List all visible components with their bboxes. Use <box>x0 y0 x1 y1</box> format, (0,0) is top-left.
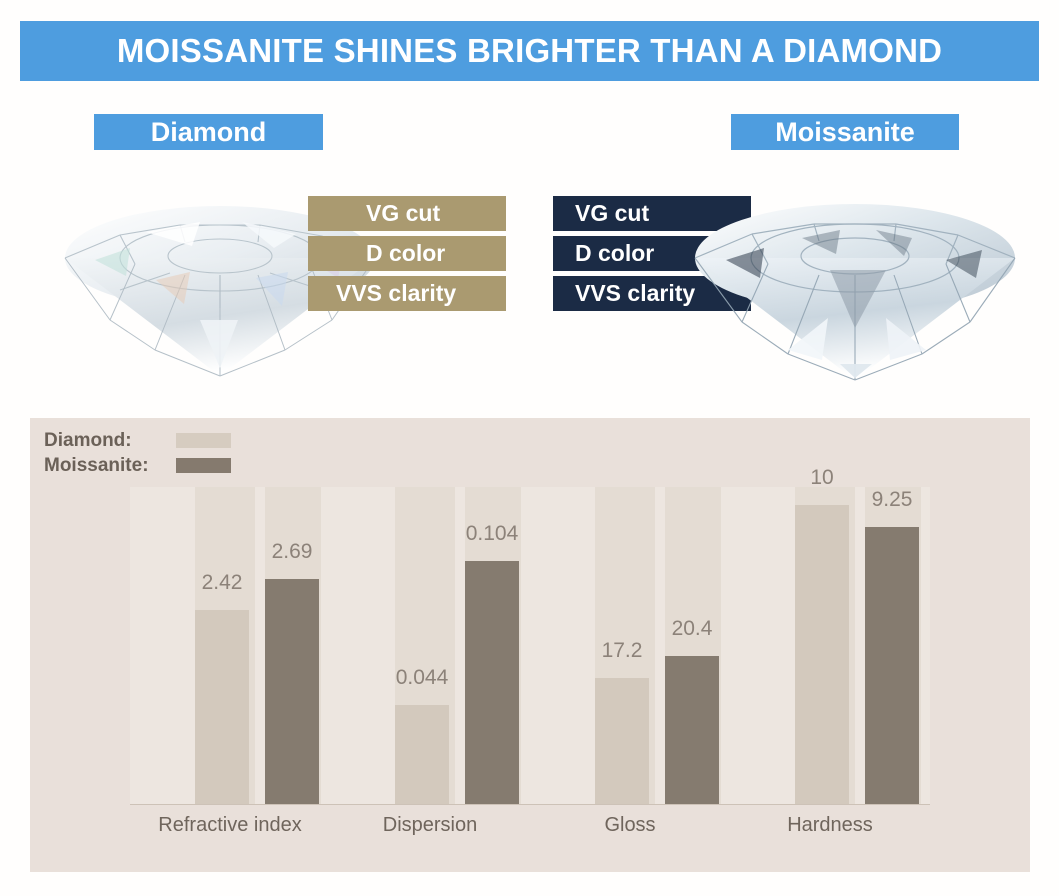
bar-value-label: 20.4 <box>649 617 735 641</box>
chart-legend: Diamond: Moissanite: <box>44 428 231 478</box>
legend-label-diamond: Diamond: <box>44 430 176 452</box>
spec-diamond-color: D color <box>308 236 506 271</box>
badge-diamond-label: Diamond <box>151 117 267 148</box>
column-band <box>330 487 395 804</box>
bar-moissanite-dispersion[interactable] <box>465 561 519 804</box>
spec-diamond-clarity: VVS clarity <box>308 276 506 311</box>
bar-moissanite-gloss[interactable] <box>665 656 719 804</box>
bar-diamond-dispersion[interactable] <box>395 705 449 804</box>
column-band <box>130 487 195 804</box>
column-band <box>321 487 330 804</box>
column-band <box>855 487 865 804</box>
legend-item-moissanite: Moissanite: <box>44 453 231 478</box>
bar-value-label: 2.69 <box>249 540 335 564</box>
bar-value-label: 10 <box>779 466 865 490</box>
category-label: Hardness <box>730 814 930 837</box>
column-band <box>730 487 795 804</box>
legend-swatch-diamond <box>176 433 231 448</box>
column-band <box>721 487 730 804</box>
legend-item-diamond: Diamond: <box>44 428 231 453</box>
category-label: Refractive index <box>130 814 330 837</box>
bar-diamond-hardness[interactable] <box>795 505 849 804</box>
badge-moissanite-label: Moissanite <box>775 117 915 148</box>
category-label: Gloss <box>530 814 730 837</box>
bar-moissanite-refractive-index[interactable] <box>265 579 319 804</box>
spec-diamond-cut: VG cut <box>308 196 506 231</box>
infographic-page: MOISSANITE SHINES BRIGHTER THAN A DIAMON… <box>0 0 1059 896</box>
bar-moissanite-hardness[interactable] <box>865 527 919 804</box>
x-axis-line <box>130 804 930 805</box>
moissanite-gem-icon <box>690 178 1020 383</box>
column-band <box>255 487 265 804</box>
legend-swatch-moissanite <box>176 458 231 473</box>
page-title-banner: MOISSANITE SHINES BRIGHTER THAN A DIAMON… <box>20 21 1039 81</box>
badge-moissanite: Moissanite <box>731 114 959 150</box>
legend-label-moissanite: Moissanite: <box>44 455 176 477</box>
page-title: MOISSANITE SHINES BRIGHTER THAN A DIAMON… <box>117 32 942 70</box>
column-band <box>921 487 930 804</box>
badge-diamond: Diamond <box>94 114 323 150</box>
bar-diamond-refractive-index[interactable] <box>195 610 249 804</box>
bar-chart-plot: 2.422.69Refractive index0.0440.104Disper… <box>130 487 930 813</box>
bar-value-label: 17.2 <box>579 639 665 663</box>
bar-value-label: 2.42 <box>179 571 265 595</box>
bar-value-label: 9.25 <box>849 488 935 512</box>
specs-diamond: VG cut D color VVS clarity <box>308 196 506 311</box>
comparison-chart-panel: Diamond: Moissanite: 2.422.69Refractive … <box>30 418 1030 872</box>
bar-diamond-gloss[interactable] <box>595 678 649 804</box>
bar-value-label: 0.044 <box>379 666 465 690</box>
bar-value-label: 0.104 <box>449 522 535 546</box>
gem-comparison-area: VG cut D color VVS clarity VG cut D colo… <box>0 160 1059 405</box>
category-label: Dispersion <box>330 814 530 837</box>
